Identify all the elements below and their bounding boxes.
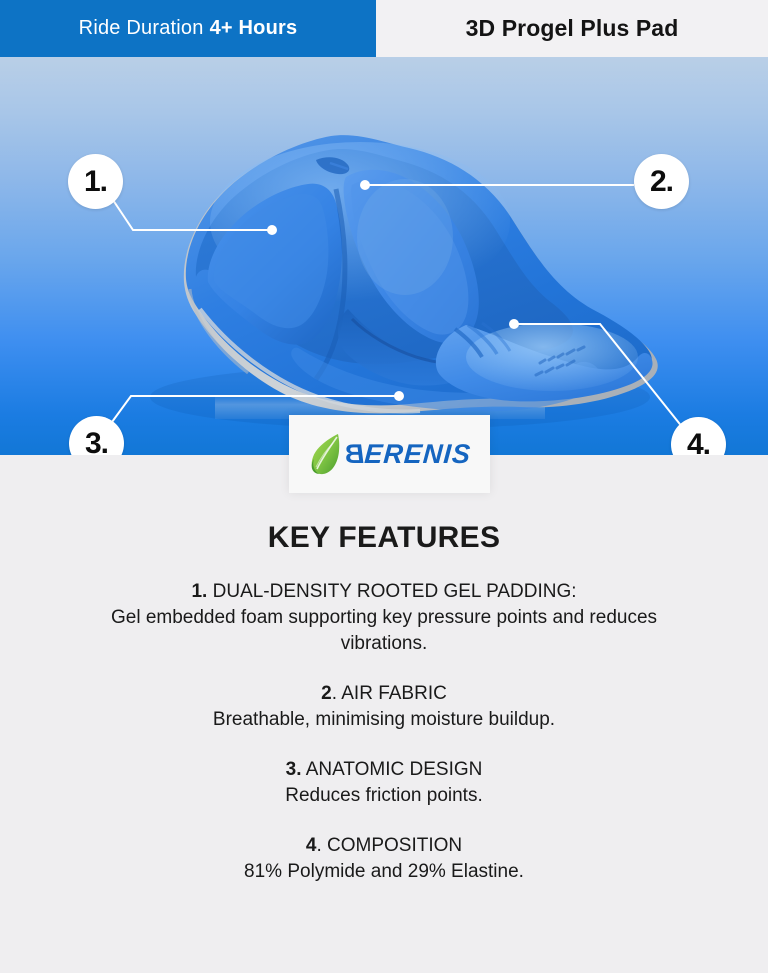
callout-leader-lines <box>0 57 768 455</box>
feature-2-number: 2 <box>321 683 332 704</box>
brand-logo: BERENIS <box>308 431 471 477</box>
feature-4-description: 81% Polymide and 29% Elastine. <box>0 859 768 885</box>
brand-wordmark-initial: B <box>343 439 366 470</box>
feature-item-1: 1. DUAL-DENSITY ROOTED GEL PADDING: Gel … <box>0 579 768 657</box>
feature-1-title-text: DUAL-DENSITY ROOTED GEL PADDING: <box>213 581 577 602</box>
feature-4-title-text: . COMPOSITION <box>316 835 462 856</box>
feature-2-title-text: . AIR FABRIC <box>332 683 447 704</box>
feature-4-number: 4 <box>306 835 317 856</box>
green-leaf-icon <box>308 431 342 477</box>
feature-2-title: 2. AIR FABRIC <box>0 681 768 707</box>
infographic-page: Ride Duration 4+ Hours 3D Progel Plus Pa… <box>0 0 768 973</box>
callout-marker-2: 2. <box>634 154 689 209</box>
feature-item-4: 4. COMPOSITION 81% Polymide and 29% Elas… <box>0 833 768 885</box>
ride-duration-value: 4+ Hours <box>210 17 298 40</box>
feature-3-title-text: ANATOMIC DESIGN <box>306 759 483 780</box>
product-hero: 1. 2. 3. 4. <box>0 57 768 455</box>
feature-2-description: Breathable, minimising moisture buildup. <box>0 707 768 733</box>
key-features-section: KEY FEATURES 1. DUAL-DENSITY ROOTED GEL … <box>0 493 768 909</box>
feature-item-2: 2. AIR FABRIC Breathable, minimising moi… <box>0 681 768 733</box>
feature-1-number: 1. <box>191 581 207 602</box>
feature-1-title: 1. DUAL-DENSITY ROOTED GEL PADDING: <box>0 579 768 605</box>
brand-wordmark: BERENIS <box>343 439 472 470</box>
feature-item-3: 3. ANATOMIC DESIGN Reduces friction poin… <box>0 757 768 809</box>
feature-1-description: Gel embedded foam supporting key pressur… <box>0 605 768 657</box>
ride-duration-badge: Ride Duration 4+ Hours <box>0 0 376 57</box>
feature-3-title: 3. ANATOMIC DESIGN <box>0 757 768 783</box>
feature-3-description: Reduces friction points. <box>0 783 768 809</box>
feature-3-number: 3. <box>286 759 302 780</box>
ride-duration-label: Ride Duration <box>79 17 204 40</box>
callout-marker-1: 1. <box>68 154 123 209</box>
header-bar: Ride Duration 4+ Hours 3D Progel Plus Pa… <box>0 0 768 57</box>
key-features-heading: KEY FEATURES <box>0 521 768 555</box>
brand-logo-panel: BERENIS <box>289 415 490 493</box>
brand-wordmark-rest: ERENIS <box>363 439 472 469</box>
feature-4-title: 4. COMPOSITION <box>0 833 768 859</box>
page-title: 3D Progel Plus Pad <box>376 0 768 57</box>
